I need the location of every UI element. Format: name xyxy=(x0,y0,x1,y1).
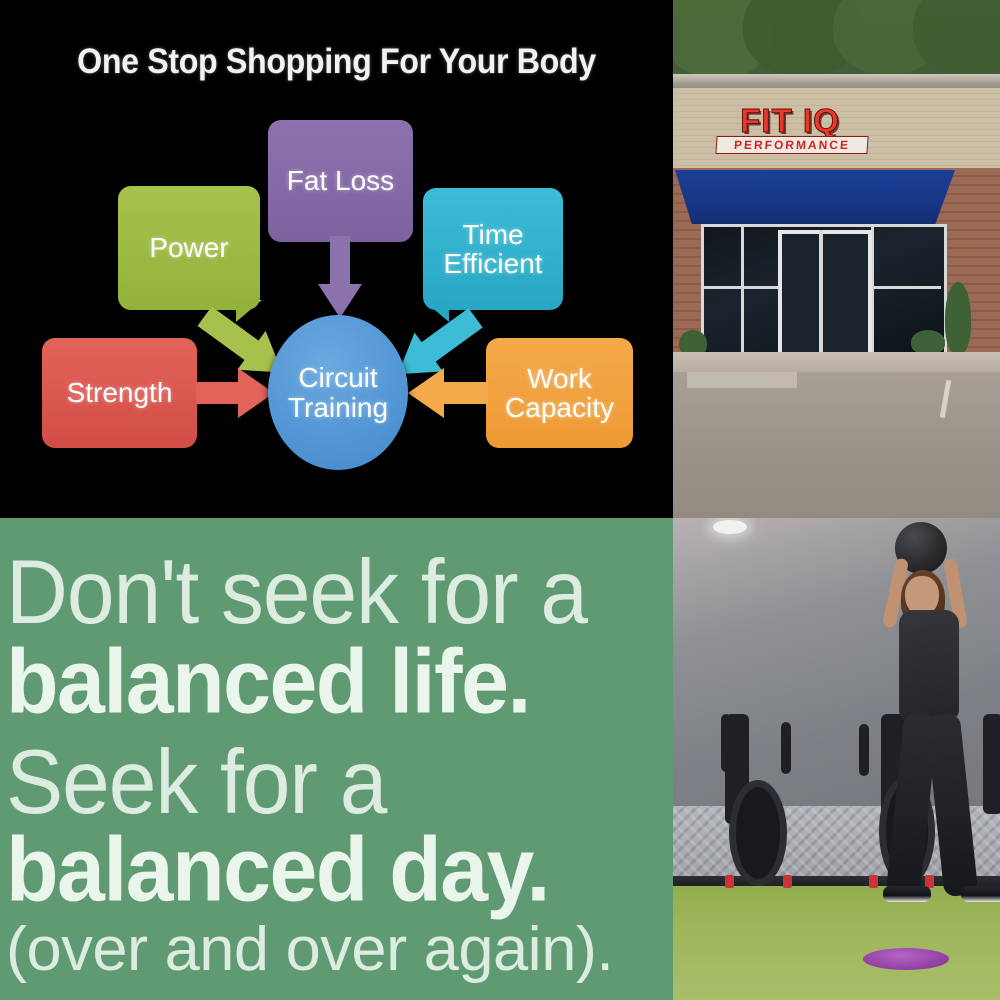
rail-anchor xyxy=(783,875,792,888)
arrow-right-icon xyxy=(196,368,276,418)
arrow-down-icon xyxy=(318,236,362,318)
turf-floor xyxy=(673,886,1000,1000)
diagram-node-fat-loss: Fat Loss xyxy=(268,120,413,242)
panel-gym-storefront-photo[interactable]: FIT IQ PERFORMANCE xyxy=(673,0,1000,518)
torso-tank-top xyxy=(899,610,959,720)
quote-text-block: Don't seek for a balanced life. Seek for… xyxy=(0,518,673,1000)
node-label-work-capacity-line2: Capacity xyxy=(505,393,614,422)
window-mullion xyxy=(741,224,744,354)
ceiling-light xyxy=(713,520,747,534)
node-label-power: Power xyxy=(149,233,228,262)
entry-doors[interactable] xyxy=(778,230,872,362)
arrow-left-icon xyxy=(408,368,488,418)
bike-handle xyxy=(781,722,791,774)
right-shoe xyxy=(961,886,1000,902)
diagram-node-work-capacity: Work Capacity xyxy=(486,338,633,448)
node-label-strength: Strength xyxy=(67,378,173,407)
curb-paint xyxy=(687,372,797,388)
node-label-fat-loss: Fat Loss xyxy=(287,166,394,195)
node-label-work-capacity-line1: Work xyxy=(505,364,614,393)
quote-line-2: balanced life. xyxy=(6,630,530,735)
sign-sub-text: PERFORMANCE xyxy=(715,136,868,154)
left-shoe xyxy=(883,886,931,902)
diagram-node-time-efficient: Time Efficient xyxy=(423,188,563,310)
bike-handle xyxy=(859,724,869,776)
node-label-circuit-line1: Circuit xyxy=(288,363,388,392)
node-label-time-efficient-line1: Time xyxy=(443,220,542,249)
rail-anchor xyxy=(869,875,878,888)
blue-awning xyxy=(675,170,955,224)
bike-handle xyxy=(721,714,731,772)
shrub xyxy=(911,330,945,354)
door-divider xyxy=(819,230,823,354)
rail-anchor xyxy=(725,875,734,888)
node-label-circuit-line2: Training xyxy=(288,393,388,422)
photo-collage: One Stop Shopping For Your Body Power Fa… xyxy=(0,0,1000,1000)
bike-fan-wheel xyxy=(729,780,787,886)
panel-gym-interior-photo[interactable] xyxy=(673,518,1000,1000)
shrub xyxy=(945,282,971,354)
storefront-sign: FIT IQ PERFORMANCE xyxy=(710,104,870,156)
parking-lot xyxy=(673,372,1000,518)
diagram-node-strength: Strength xyxy=(42,338,197,448)
panel-circuit-training-diagram[interactable]: One Stop Shopping For Your Body Power Fa… xyxy=(0,0,673,518)
sign-main-text: FIT IQ xyxy=(710,104,870,138)
balance-disc xyxy=(863,948,949,970)
assault-bike xyxy=(983,714,1000,814)
quote-line-4: balanced day. xyxy=(6,818,549,923)
diagram-node-circuit-training: Circuit Training xyxy=(268,315,408,470)
panel-motivational-quote[interactable]: Don't seek for a balanced life. Seek for… xyxy=(0,518,673,1000)
node-label-time-efficient-line2: Efficient xyxy=(443,249,542,278)
diagram-node-power: Power xyxy=(118,186,260,310)
diagram-title: One Stop Shopping For Your Body xyxy=(27,42,646,82)
quote-line-5: (over and over again). xyxy=(6,914,613,985)
